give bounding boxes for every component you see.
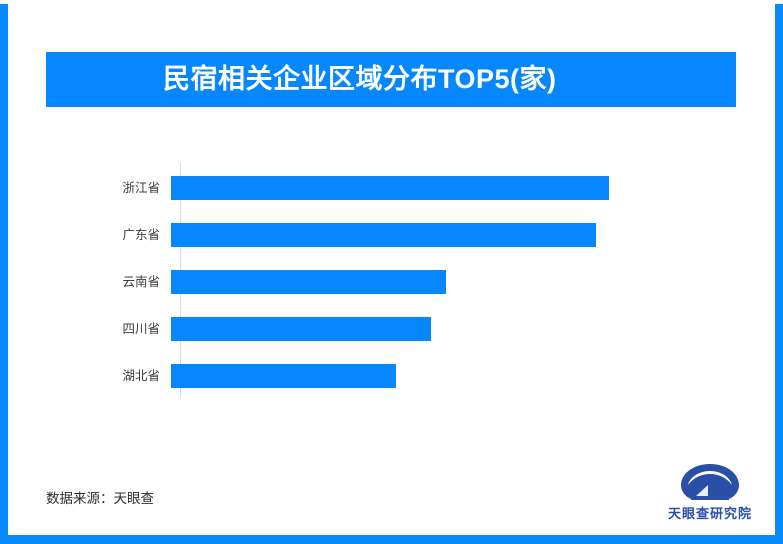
frame-border-left [0,4,8,544]
bar-track [171,270,736,294]
bar-category-label: 云南省 [46,270,170,294]
bar-fill [171,364,396,388]
bar-fill [171,176,609,200]
chart-title: 民宿相关企业区域分布TOP5(家) [163,66,557,93]
bar-category-label: 浙江省 [46,176,170,200]
bar-track [171,176,736,200]
bar-row: 浙江省 [46,176,736,200]
brand-logo: 天眼查研究院 [650,462,770,524]
bar-track [171,317,736,341]
bar-row: 云南省 [46,270,736,294]
bar-category-label: 四川省 [46,317,170,341]
bar-fill [171,317,431,341]
bar-row: 四川省 [46,317,736,341]
bar-row: 广东省 [46,223,736,247]
tianyancha-eye-icon [679,462,741,502]
bar-category-label: 广东省 [46,223,170,247]
bar-category-label: 湖北省 [46,364,170,388]
bar-plot-area: 浙江省 广东省 云南省 四川省 [46,163,736,398]
bar-track [171,223,736,247]
infographic-root: 民宿相关企业区域分布TOP5(家) 浙江省 广东省 云南省 [0,0,783,544]
frame-border-right [775,4,783,544]
brand-logo-text: 天眼查研究院 [668,503,752,522]
frame-border-bottom [0,535,783,544]
bar-row: 湖北省 [46,364,736,388]
title-banner: 民宿相关企业区域分布TOP5(家) [46,52,736,107]
bar-chart: 浙江省 广东省 云南省 四川省 [46,150,736,415]
bar-fill [171,223,596,247]
bar-track [171,364,736,388]
bar-fill [171,270,446,294]
data-source-note: 数据来源：天眼查 [46,487,154,507]
